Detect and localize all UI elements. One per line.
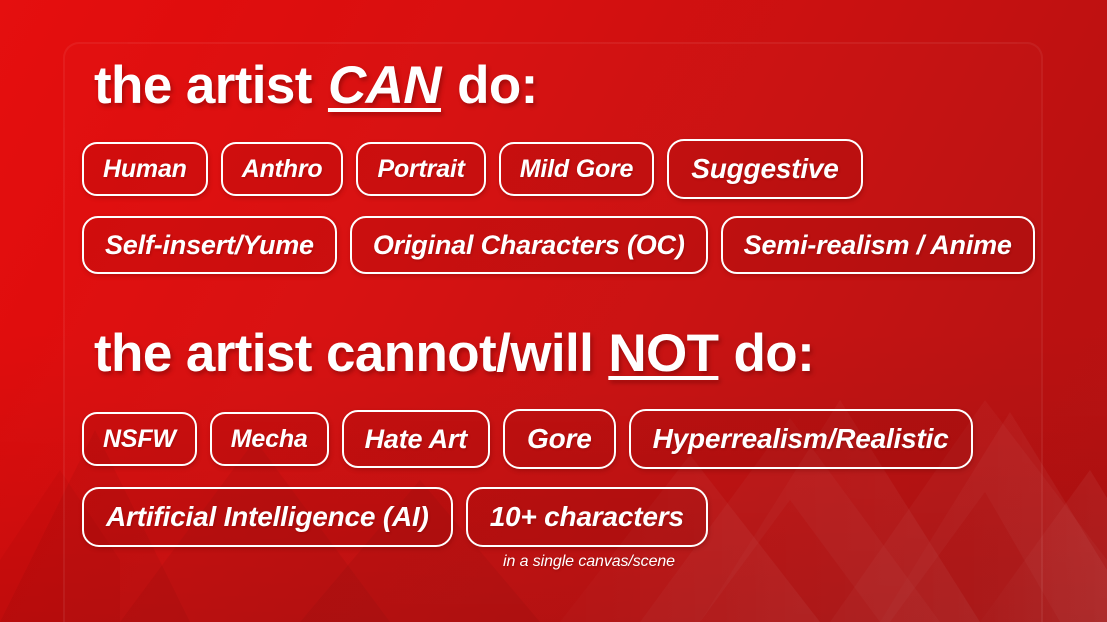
tag-pill-suggestive[interactable]: Suggestive (667, 139, 862, 199)
tag-pill-semi-realism-anime[interactable]: Semi-realism / Anime (721, 216, 1035, 274)
can-heading-prefix: the artist (94, 56, 326, 115)
tag-pill-human[interactable]: Human (82, 142, 208, 196)
tag-pill-mild-gore[interactable]: Mild Gore (499, 142, 654, 196)
tag-pill-portrait[interactable]: Portrait (356, 142, 485, 196)
can-tag-row-2: Self-insert/Yume Original Characters (OC… (82, 216, 1048, 274)
commission-terms-graphic: the artist CAN do: Human Anthro Portrait… (0, 0, 1107, 622)
tag-pill-nsfw[interactable]: NSFW (82, 412, 197, 466)
tag-pill-artificial-intelligence[interactable]: Artificial Intelligence (AI) (82, 487, 453, 547)
tag-pill-original-characters[interactable]: Original Characters (OC) (350, 216, 708, 274)
ten-plus-characters-caption: in a single canvas/scene (476, 553, 702, 571)
tag-pill-hate-art[interactable]: Hate Art (342, 410, 490, 468)
cannot-tag-row-2: Artificial Intelligence (AI) 10+ charact… (82, 487, 721, 547)
tag-pill-gore[interactable]: Gore (503, 409, 616, 469)
tag-pill-anthro[interactable]: Anthro (221, 142, 344, 196)
tag-pill-self-insert-yume[interactable]: Self-insert/Yume (82, 216, 337, 274)
cannot-heading-prefix: the artist cannot/will (94, 324, 607, 383)
can-tag-row-1: Human Anthro Portrait Mild Gore Suggesti… (82, 139, 876, 199)
tag-pill-mecha[interactable]: Mecha (210, 412, 329, 466)
tag-pill-hyperrealism-realistic[interactable]: Hyperrealism/Realistic (629, 409, 973, 469)
can-heading-emphasis: CAN (326, 56, 443, 115)
tag-pill-ten-plus-characters[interactable]: 10+ characters (466, 487, 708, 547)
cannot-tag-row-1: NSFW Mecha Hate Art Gore Hyperrealism/Re… (82, 409, 986, 469)
cannot-heading-suffix: do: (719, 324, 814, 383)
cannot-heading-emphasis: NOT (607, 324, 719, 383)
cannot-section-heading: the artist cannot/will NOT do: (94, 327, 814, 380)
can-section-heading: the artist CAN do: (94, 59, 538, 112)
can-heading-suffix: do: (443, 56, 538, 115)
